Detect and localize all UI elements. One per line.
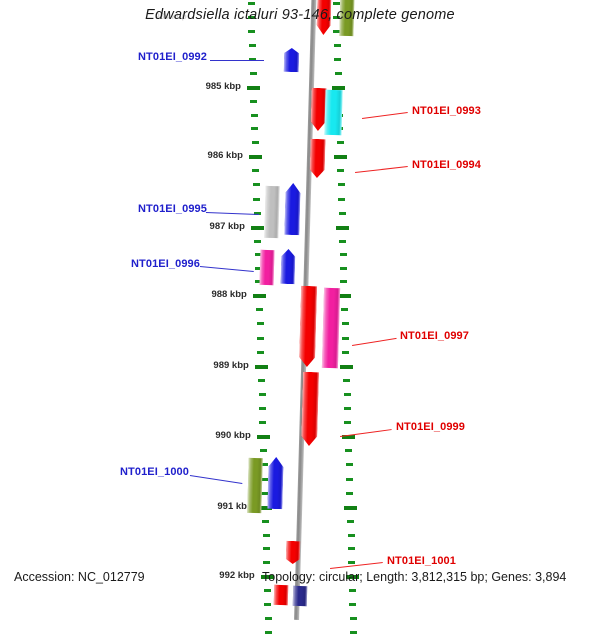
gene-feature-shading — [267, 457, 283, 509]
gene-feature-body — [247, 458, 263, 513]
ruler-tick-minor — [344, 393, 351, 396]
ruler-tick-minor — [259, 407, 266, 410]
ruler-tick-minor — [337, 141, 344, 144]
gene-feature-shading — [322, 288, 340, 368]
ruler-tick-minor — [335, 72, 342, 75]
gene-label-NT01EI_1001[interactable]: NT01EI_1001 — [387, 555, 456, 567]
ruler-tick-major — [336, 226, 349, 230]
gene-label-NT01EI_0999[interactable]: NT01EI_0999 — [396, 421, 465, 433]
gene-feature-shading — [284, 48, 300, 72]
gene-label-NT01EI_0994[interactable]: NT01EI_0994 — [412, 159, 481, 171]
ruler-tick-minor — [346, 478, 353, 481]
ruler-tick-minor — [347, 520, 354, 523]
ruler-tick-minor — [253, 198, 260, 201]
ruler-tick-minor — [251, 114, 258, 117]
gene-feature-navy-bar-bottom-partial[interactable] — [293, 586, 308, 606]
ruler-tick-minor — [257, 322, 264, 325]
gene-feature-shading — [286, 541, 301, 564]
ruler-tick-minor — [334, 44, 341, 47]
ruler-tick-major — [249, 155, 262, 159]
gene-label-NT01EI_1000[interactable]: NT01EI_1000 — [120, 466, 189, 478]
ruler-tick-minor — [343, 379, 350, 382]
ruler-tick-minor — [341, 308, 348, 311]
gene-feature-body — [284, 183, 300, 235]
gene-label-NT01EI_0993[interactable]: NT01EI_0993 — [412, 105, 481, 117]
gene-feature-body — [301, 372, 319, 446]
gene-feature-body — [274, 585, 289, 605]
ruler-tick-label: 985 kbp — [171, 81, 241, 92]
gene-leader-line-NT01EI_0999 — [340, 429, 392, 437]
gene-feature-NT01EI_1000[interactable] — [247, 458, 263, 513]
gene-feature-body — [286, 541, 301, 564]
footer-accession: Accession: NC_012779 — [14, 570, 145, 584]
gene-feature-NT01EI_0997[interactable] — [322, 288, 340, 368]
ruler-tick-major — [344, 506, 357, 510]
ruler-tick-minor — [259, 421, 266, 424]
ruler-tick-minor — [340, 253, 347, 256]
ruler-tick-minor — [340, 267, 347, 270]
ruler-tick-minor — [256, 308, 263, 311]
gene-label-NT01EI_0992[interactable]: NT01EI_0992 — [138, 51, 207, 63]
ruler-tick-minor — [258, 379, 265, 382]
ruler-tick-minor — [333, 2, 340, 5]
ruler-tick-minor — [257, 351, 264, 354]
ruler-tick-major — [257, 435, 270, 439]
gene-feature-NT01EI_0992[interactable] — [284, 48, 300, 72]
ruler-tick-label: 990 kbp — [181, 430, 251, 441]
ruler-tick-minor — [338, 198, 345, 201]
gene-feature-body — [267, 457, 283, 509]
ruler-tick-minor — [260, 449, 267, 452]
ruler-tick-minor — [342, 351, 349, 354]
gene-feature-body — [264, 186, 279, 238]
ruler-tick-minor — [263, 547, 270, 550]
gene-leader-line-NT01EI_1000 — [190, 475, 242, 484]
ruler-tick-label: 992 kbp — [185, 570, 255, 581]
ruler-tick-major — [255, 365, 268, 369]
gene-feature-shading — [324, 90, 342, 135]
gene-feature-shading — [247, 458, 263, 513]
ruler-tick-label: 991 kbp — [183, 501, 253, 512]
ruler-tick-minor — [250, 72, 257, 75]
gene-feature-body — [299, 286, 317, 367]
gene-feature-body — [281, 249, 296, 284]
gene-feature-blue-arrow-1000[interactable] — [267, 457, 283, 509]
ruler-tick-minor — [248, 2, 255, 5]
gene-label-NT01EI_0996[interactable]: NT01EI_0996 — [131, 258, 200, 270]
ruler-tick-major — [340, 365, 353, 369]
ruler-tick-minor — [265, 617, 272, 620]
ruler-tick-minor — [253, 183, 260, 186]
gene-feature-shading — [264, 186, 279, 238]
gene-feature-NT01EI_0999[interactable] — [301, 372, 319, 446]
ruler-tick-minor — [344, 421, 351, 424]
genome-viewer-canvas: 984 kbp Edwardsiella ictaluri 93-146, co… — [0, 0, 600, 600]
ruler-tick-minor — [248, 30, 255, 33]
gene-feature-body — [284, 48, 300, 72]
gene-feature-shading — [260, 250, 275, 285]
gene-feature-NT01EI_0995[interactable] — [264, 186, 279, 238]
gene-feature-body — [309, 139, 325, 178]
ruler-tick-minor — [339, 240, 346, 243]
ruler-tick-minor — [252, 141, 259, 144]
ruler-tick-minor — [251, 127, 258, 130]
ruler-tick-minor — [257, 337, 264, 340]
ruler-tick-minor — [342, 337, 349, 340]
gene-feature-shading — [284, 183, 300, 235]
ruler-tick-minor — [339, 212, 346, 215]
gene-feature-NT01EI_0996[interactable] — [260, 250, 275, 285]
gene-feature-shading — [274, 585, 289, 605]
gene-feature-body — [322, 288, 340, 368]
gene-feature-shading — [299, 286, 317, 367]
gene-leader-line-NT01EI_0996 — [200, 266, 254, 272]
gene-feature-shading — [309, 139, 325, 178]
ruler-tick-minor — [259, 393, 266, 396]
gene-leader-line-NT01EI_0994 — [355, 166, 408, 173]
gene-feature-NT01EI_0993[interactable] — [324, 90, 342, 135]
gene-leader-line-NT01EI_0992 — [210, 60, 264, 61]
ruler-tick-major — [251, 226, 264, 230]
ruler-tick-minor — [350, 617, 357, 620]
ruler-tick-label: 986 kbp — [173, 150, 243, 161]
ruler-tick-minor — [252, 169, 259, 172]
ruler-tick-minor — [250, 100, 257, 103]
ruler-tick-minor — [349, 603, 356, 606]
gene-feature-NT01EI_0994[interactable] — [309, 139, 325, 178]
footer-topology: Topology: circular; Length: 3,812,315 bp… — [262, 570, 566, 584]
ruler-tick-minor — [254, 240, 261, 243]
ruler-tick-major — [253, 294, 266, 298]
ruler-tick-minor — [340, 280, 347, 283]
ruler-tick-minor — [346, 463, 353, 466]
gene-feature-blue-arrow-0996[interactable] — [281, 249, 296, 284]
ruler-tick-minor — [348, 547, 355, 550]
gene-feature-body — [324, 90, 342, 135]
ruler-tick-major — [247, 86, 260, 90]
gene-feature-red-arrow-0997[interactable] — [299, 286, 317, 367]
ruler-tick-label: 989 kbp — [179, 360, 249, 371]
gene-feature-red-bar-bottom-partial[interactable] — [274, 585, 289, 605]
gene-feature-shading — [301, 372, 319, 446]
ruler-tick-minor — [264, 603, 271, 606]
ruler-tick-minor — [262, 520, 269, 523]
gene-feature-NT01EI_1001[interactable] — [286, 541, 301, 564]
ruler-tick-minor — [344, 407, 351, 410]
ruler-tick-minor — [263, 561, 270, 564]
ruler-tick-minor — [337, 169, 344, 172]
gene-feature-shading — [281, 249, 296, 284]
gene-label-NT01EI_0997[interactable]: NT01EI_0997 — [400, 330, 469, 342]
ruler-tick-major — [334, 155, 347, 159]
gene-leader-line-NT01EI_0993 — [362, 112, 408, 119]
ruler-tick-minor — [348, 561, 355, 564]
ruler-tick-minor — [342, 322, 349, 325]
ruler-tick-minor — [345, 449, 352, 452]
gene-leader-line-NT01EI_0997 — [352, 338, 396, 346]
gene-leader-line-NT01EI_0995 — [206, 212, 259, 215]
gene-feature-body — [293, 586, 308, 606]
gene-feature-body — [260, 250, 275, 285]
ruler-tick-minor — [348, 534, 355, 537]
ruler-tick-minor — [338, 183, 345, 186]
ruler-tick-minor — [346, 492, 353, 495]
ruler-tick-minor — [263, 534, 270, 537]
gene-leader-line-NT01EI_1001 — [330, 562, 383, 569]
gene-feature-shading — [293, 586, 308, 606]
ruler-tick-minor — [334, 58, 341, 61]
gene-feature-blue-arrow-0995[interactable] — [284, 183, 300, 235]
ruler-tick-minor — [264, 589, 271, 592]
ruler-tick-minor — [349, 589, 356, 592]
genome-title: Edwardsiella ictaluri 93-146, complete g… — [0, 7, 600, 23]
ruler-tick-label: 988 kbp — [177, 289, 247, 300]
ruler-tick-minor — [249, 44, 256, 47]
ruler-tick-label: 987 kbp — [175, 221, 245, 232]
gene-label-NT01EI_0995[interactable]: NT01EI_0995 — [138, 203, 207, 215]
